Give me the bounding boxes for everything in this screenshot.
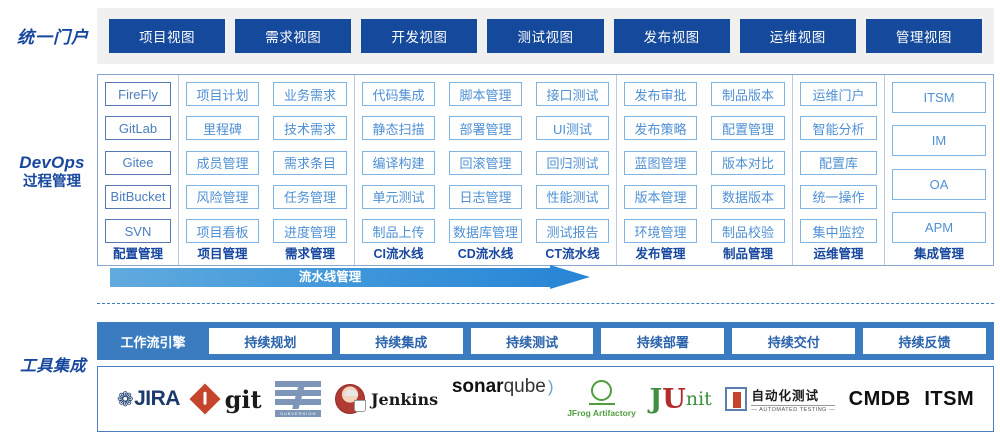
capability-cell[interactable]: 运维门户 — [800, 82, 877, 106]
automated-testing-icon — [725, 387, 747, 411]
capability-cell[interactable]: 数据版本 — [711, 185, 785, 209]
capability-group-2: 代码集成 静态扫描 编译构建 单元测试 制品上传 CI流水线 脚本管理 部署管理… — [354, 75, 616, 265]
capability-cell[interactable]: 发布策略 — [624, 116, 697, 140]
arrow-head-icon — [550, 265, 590, 289]
capability-cell[interactable]: ITSM — [892, 82, 986, 113]
capability-column-title: 制品管理 — [704, 243, 792, 265]
itsm-logo[interactable]: ITSM — [924, 376, 974, 422]
jenkins-logo[interactable]: Jenkins — [335, 376, 438, 422]
cmdb-logo[interactable]: CMDB — [849, 376, 911, 422]
tool-integration-row: 工具集成 工作流引擎 持续规划 持续集成 持续测试 持续部署 持续交付 持续反馈… — [0, 312, 1000, 439]
portal-view-button-4[interactable]: 发布视图 — [614, 19, 730, 53]
capability-column-title: CI流水线 — [355, 243, 442, 265]
workflow-stage-2[interactable]: 持续测试 — [471, 328, 594, 354]
capability-column-title: 需求管理 — [266, 243, 354, 265]
capability-cell[interactable]: Gitee — [105, 151, 171, 175]
capability-cell-list: 制品版本 配置管理 版本对比 数据版本 制品校验 — [704, 82, 792, 243]
capability-cell[interactable]: OA — [892, 169, 986, 200]
devops-section-label: DevOps 过程管理 — [6, 152, 98, 191]
capability-cell[interactable]: 配置管理 — [711, 116, 785, 140]
subversion-logo-text: SUBVERSION — [275, 410, 321, 417]
capability-cell-list: 接口测试 UI测试 回归测试 性能测试 测试报告 — [529, 82, 616, 243]
capability-column-title: 运维管理 — [793, 243, 884, 265]
capability-column-artifact: 制品版本 配置管理 版本对比 数据版本 制品校验 制品管理 — [704, 75, 792, 265]
git-diamond-icon — [189, 383, 220, 414]
capability-cell[interactable]: 日志管理 — [449, 185, 522, 209]
portal-view-button-5[interactable]: 运维视图 — [740, 19, 856, 53]
capability-cell-list: 运维门户 智能分析 配置库 统一操作 集中监控 — [793, 82, 884, 243]
capability-column-config: FireFly GitLab Gitee BitBucket SVN 配置管理 — [98, 75, 178, 265]
capability-cell-list: 业务需求 技术需求 需求条目 任务管理 进度管理 — [266, 82, 354, 243]
automated-testing-text-en: — AUTOMATED TESTING — — [751, 405, 835, 413]
capability-cell[interactable]: 静态扫描 — [362, 116, 435, 140]
capability-cell[interactable]: 环境管理 — [624, 219, 697, 243]
capability-cell[interactable]: 发布审批 — [624, 82, 697, 106]
capability-group-5: ITSM IM OA APM 集成管理 — [884, 75, 993, 265]
capability-column-title: 发布管理 — [617, 243, 704, 265]
capability-cell-list: ITSM IM OA APM — [885, 82, 993, 243]
unified-portal-label: 统一门户 — [10, 23, 96, 48]
capability-column-title: CT流水线 — [529, 243, 616, 265]
capability-column-ci: 代码集成 静态扫描 编译构建 单元测试 制品上传 CI流水线 — [355, 75, 442, 265]
git-logo-text: git — [225, 385, 262, 414]
sonar-wave-icon: ) — [548, 377, 554, 397]
automated-testing-logo[interactable]: 自动化测试 — AUTOMATED TESTING — — [725, 376, 835, 422]
capability-cell[interactable]: 集中监控 — [800, 219, 877, 243]
capability-cell[interactable]: 数据库管理 — [449, 219, 522, 243]
capability-column-title: CD流水线 — [442, 243, 529, 265]
unified-portal-row: 统一门户 项目视图 需求视图 开发视图 测试视图 发布视图 运维视图 管理视图 — [0, 0, 1000, 72]
pipeline-management-arrow: 流水线管理 — [110, 268, 590, 287]
automated-testing-text-cn: 自动化测试 — [751, 385, 835, 404]
capability-cell[interactable]: 配置库 — [800, 151, 877, 175]
capability-cell[interactable]: 单元测试 — [362, 185, 435, 209]
capability-cell[interactable]: 业务需求 — [273, 82, 347, 106]
capability-cell[interactable]: 进度管理 — [273, 219, 347, 243]
capability-cell[interactable]: 技术需求 — [273, 116, 347, 140]
devops-capability-panel: FireFly GitLab Gitee BitBucket SVN 配置管理 … — [97, 74, 994, 266]
git-logo[interactable]: git — [194, 376, 262, 422]
capability-cell[interactable]: 性能测试 — [536, 185, 609, 209]
devops-label-en: DevOps — [6, 152, 98, 173]
tool-logo-strip: ❁JIRA git SUBVERSION Jenkins sonarqube )… — [97, 366, 994, 432]
capability-cell-list: FireFly GitLab Gitee BitBucket SVN — [98, 82, 178, 243]
capability-cell[interactable]: 代码集成 — [362, 82, 435, 106]
portal-view-button-2[interactable]: 开发视图 — [361, 19, 477, 53]
capability-cell[interactable]: 需求条目 — [273, 151, 347, 175]
capability-column-title: 项目管理 — [179, 243, 266, 265]
capability-cell[interactable]: 智能分析 — [800, 116, 877, 140]
capability-cell[interactable]: 项目看板 — [186, 219, 259, 243]
capability-cell[interactable]: SVN — [105, 219, 171, 243]
capability-group-1: 项目计划 里程碑 成员管理 风险管理 项目看板 项目管理 业务需求 技术需求 需… — [178, 75, 354, 265]
jfrog-logo-text: JFrog Artifactory — [567, 408, 636, 418]
jfrog-bar-icon — [589, 403, 615, 405]
portal-view-button-0[interactable]: 项目视图 — [109, 19, 225, 53]
capability-cell[interactable]: 成员管理 — [186, 151, 259, 175]
portal-view-button-3[interactable]: 测试视图 — [487, 19, 603, 53]
capability-cell[interactable]: 脚本管理 — [449, 82, 522, 106]
portal-view-button-1[interactable]: 需求视图 — [235, 19, 351, 53]
capability-cell[interactable]: GitLab — [105, 116, 171, 140]
capability-column-cd: 脚本管理 部署管理 回滚管理 日志管理 数据库管理 CD流水线 — [442, 75, 529, 265]
workflow-stage-1[interactable]: 持续集成 — [340, 328, 463, 354]
pipeline-arrow-label: 流水线管理 — [110, 268, 550, 287]
capability-cell[interactable]: 回滚管理 — [449, 151, 522, 175]
capability-cell[interactable]: 蓝图管理 — [624, 151, 697, 175]
jira-mark-icon: ❁ — [117, 387, 133, 412]
capability-cell[interactable]: BitBucket — [105, 185, 171, 209]
capability-cell[interactable]: 制品版本 — [711, 82, 785, 106]
capability-column-release: 发布审批 发布策略 蓝图管理 版本管理 环境管理 发布管理 — [617, 75, 704, 265]
capability-cell[interactable]: 统一操作 — [800, 185, 877, 209]
capability-cell[interactable]: 制品校验 — [711, 219, 785, 243]
junit-logo-text-j: J — [650, 384, 663, 415]
capability-cell[interactable]: 编译构建 — [362, 151, 435, 175]
sonarqube-logo-text-light: qube — [504, 376, 546, 398]
capability-group-4: 运维门户 智能分析 配置库 统一操作 集中监控 运维管理 — [792, 75, 884, 265]
capability-cell[interactable]: 任务管理 — [273, 185, 347, 209]
devops-label-cn: 过程管理 — [6, 173, 98, 191]
junit-logo-text-rest: nit — [686, 388, 712, 410]
sonarqube-logo[interactable]: sonarqube ) — [452, 376, 554, 422]
capability-cell-list: 脚本管理 部署管理 回滚管理 日志管理 数据库管理 — [442, 82, 529, 243]
capability-column-integration: ITSM IM OA APM 集成管理 — [885, 75, 993, 265]
capability-cell[interactable]: 测试报告 — [536, 219, 609, 243]
junit-logo[interactable]: JUnit — [650, 376, 712, 422]
workflow-stage-bar: 工作流引擎 持续规划 持续集成 持续测试 持续部署 持续交付 持续反馈 — [97, 322, 994, 360]
capability-cell-list: 项目计划 里程碑 成员管理 风险管理 项目看板 — [179, 82, 266, 243]
capability-cell[interactable]: 风险管理 — [186, 185, 259, 209]
capability-cell[interactable]: 版本管理 — [624, 185, 697, 209]
cmdb-logo-text: CMDB — [849, 388, 911, 411]
jenkins-butler-icon — [335, 384, 365, 414]
capability-cell[interactable]: 版本对比 — [711, 151, 785, 175]
junit-logo-text-u: U — [662, 384, 686, 415]
portal-view-button-6[interactable]: 管理视图 — [866, 19, 982, 53]
capability-column-title: 集成管理 — [885, 243, 993, 265]
subversion-glyph-icon — [275, 381, 321, 409]
capability-cell[interactable]: 回归测试 — [536, 151, 609, 175]
capability-cell[interactable]: FireFly — [105, 82, 171, 106]
capability-cell[interactable]: UI测试 — [536, 116, 609, 140]
capability-column-title: 配置管理 — [98, 243, 178, 265]
workflow-engine-label: 工作流引擎 — [101, 332, 205, 351]
capability-cell[interactable]: 里程碑 — [186, 116, 259, 140]
capability-column-ct: 接口测试 UI测试 回归测试 性能测试 测试报告 CT流水线 — [529, 75, 616, 265]
devops-process-row: DevOps 过程管理 FireFly GitLab Gitee BitBuck… — [0, 72, 1000, 294]
subversion-logo[interactable]: SUBVERSION — [275, 376, 321, 422]
jfrog-ring-icon — [591, 380, 612, 401]
jira-logo-text: JIRA — [134, 387, 180, 411]
workflow-stage-5[interactable]: 持续反馈 — [863, 328, 986, 354]
jfrog-artifactory-logo[interactable]: JFrog Artifactory — [567, 376, 636, 422]
capability-group-0: FireFly GitLab Gitee BitBucket SVN 配置管理 — [98, 75, 178, 265]
workflow-stage-0[interactable]: 持续规划 — [209, 328, 332, 354]
workflow-stage-3[interactable]: 持续部署 — [601, 328, 724, 354]
tool-integration-label: 工具集成 — [8, 352, 98, 376]
capability-group-3: 发布审批 发布策略 蓝图管理 版本管理 环境管理 发布管理 制品版本 配置管理 … — [616, 75, 792, 265]
capability-cell[interactable]: IM — [892, 125, 986, 156]
workflow-stage-4[interactable]: 持续交付 — [732, 328, 855, 354]
capability-cell[interactable]: 制品上传 — [362, 219, 435, 243]
sonarqube-logo-text-bold: sonar — [452, 376, 504, 398]
itsm-logo-text: ITSM — [924, 388, 974, 411]
portal-view-button-bar: 项目视图 需求视图 开发视图 测试视图 发布视图 运维视图 管理视图 — [97, 8, 994, 64]
capability-cell-list: 代码集成 静态扫描 编译构建 单元测试 制品上传 — [355, 82, 442, 243]
capability-column-project: 项目计划 里程碑 成员管理 风险管理 项目看板 项目管理 — [179, 75, 266, 265]
capability-cell[interactable]: 接口测试 — [536, 82, 609, 106]
capability-column-requirement: 业务需求 技术需求 需求条目 任务管理 进度管理 需求管理 — [266, 75, 354, 265]
capability-cell[interactable]: 部署管理 — [449, 116, 522, 140]
section-divider — [97, 303, 994, 304]
capability-column-operations: 运维门户 智能分析 配置库 统一操作 集中监控 运维管理 — [793, 75, 884, 265]
capability-cell[interactable]: APM — [892, 212, 986, 243]
capability-cell[interactable]: 项目计划 — [186, 82, 259, 106]
jira-logo[interactable]: ❁JIRA — [117, 376, 180, 422]
capability-cell-list: 发布审批 发布策略 蓝图管理 版本管理 环境管理 — [617, 82, 704, 243]
jenkins-logo-text: Jenkins — [371, 390, 438, 409]
